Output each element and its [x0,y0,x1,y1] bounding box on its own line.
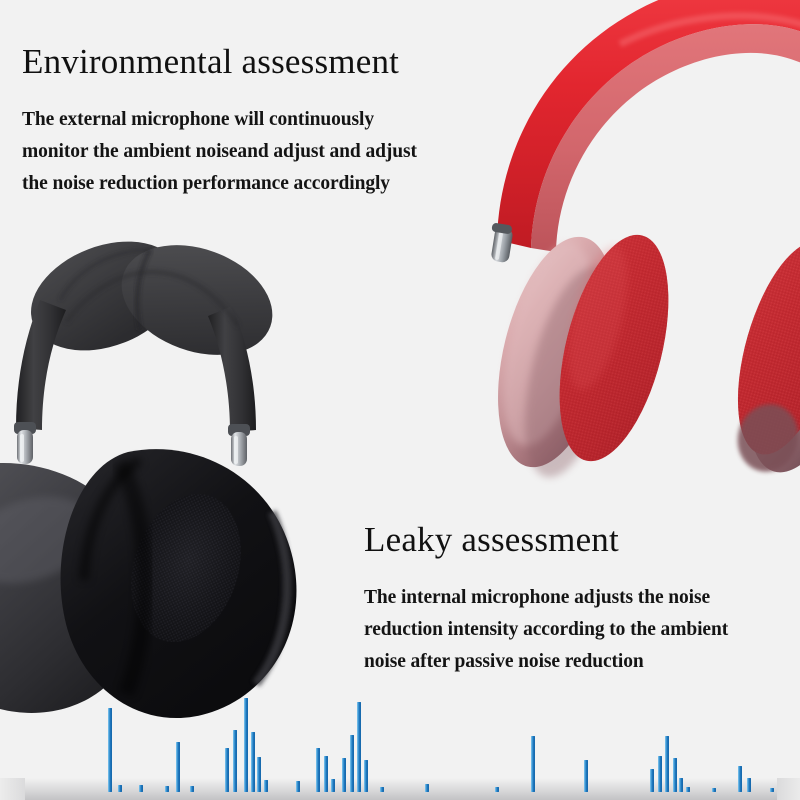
black-cushion [61,449,297,718]
black-earcup-left [0,463,145,713]
waveform-bar [584,760,588,792]
waveform-bar [679,778,683,792]
black-earcup-right [61,449,297,718]
waveform-bar [650,769,654,792]
waveform-bar [425,784,429,792]
waveform-bar [747,778,751,792]
red-headphones-group [477,0,800,486]
audio-waveform [0,680,800,800]
waveform-bar [296,781,300,792]
environmental-body-line-2: monitor the ambient noiseand adjust and … [22,136,417,168]
environmental-assessment-block: Environmental assessment The external mi… [22,40,417,200]
waveform-bar [357,702,361,792]
waveform-bar [495,787,499,792]
waveform-bar [244,698,248,792]
black-arm-right [208,306,256,432]
environmental-assessment-heading: Environmental assessment [22,40,417,84]
environmental-assessment-body: The external microphone will continuousl… [22,104,417,200]
waveform-bar [364,760,368,792]
red-left-stem [490,222,513,263]
feature-graphic-canvas: Environmental assessment The external mi… [0,0,800,800]
waveform-bar [139,785,143,792]
black-cushion-rim-highlight [256,512,287,684]
black-left-stem [14,422,36,464]
waveform-bar [316,748,320,792]
waveform-bar [118,785,122,792]
black-earcup-mesh [113,480,259,657]
waveform-bar [770,788,774,792]
environmental-body-line-3: the noise reduction performance accordin… [22,168,417,200]
leaky-body-line-3: noise after passive noise reduction [364,646,728,678]
waveform-bar [686,787,690,792]
waveform-bar [190,786,194,792]
waveform-bar [264,780,268,792]
waveform-bar [233,730,237,792]
black-headband-seam [137,250,150,330]
waveform-bar [165,786,169,792]
waveform-bar [350,735,354,792]
waveform-bar [257,757,261,792]
waveform-bar [665,736,669,792]
black-headband-lobe-left [15,221,196,370]
environmental-body-line-1: The external microphone will continuousl… [22,104,417,136]
black-headphones-group [0,221,296,718]
black-headband-lobe-right [106,225,287,374]
red-headband-sheen [620,16,800,44]
red-headband-inner [531,24,800,252]
waveform-bar [342,758,346,792]
red-cushion-left [539,224,688,472]
waveform-bar [658,756,662,792]
leaky-body-line-2: reduction intensity according to the amb… [364,614,728,646]
black-earcup-left-highlight [0,482,105,599]
waveform-bar [738,766,742,792]
waveform-bar [380,787,384,792]
leaky-assessment-block: Leaky assessment The internal microphone… [364,518,728,678]
waveform-bar [251,732,255,792]
red-earcup-right [717,230,800,485]
red-earcup-left [477,224,689,487]
waveform-bar [531,736,535,792]
black-arm-left [16,300,66,430]
waveform-bar [324,756,328,792]
waveform-bar [712,788,716,792]
red-headband [497,0,800,248]
waveform-bar [331,779,335,792]
leaky-body-line-1: The internal microphone adjusts the nois… [364,582,728,614]
waveform-bar [225,748,229,792]
red-cushion-right [717,230,800,466]
waveform-bar [673,758,677,792]
leaky-assessment-body: The internal microphone adjusts the nois… [364,582,728,678]
black-right-stem [228,424,250,466]
waveform-bar [176,742,180,792]
leaky-assessment-heading: Leaky assessment [364,518,728,562]
waveform-bar [108,708,112,792]
